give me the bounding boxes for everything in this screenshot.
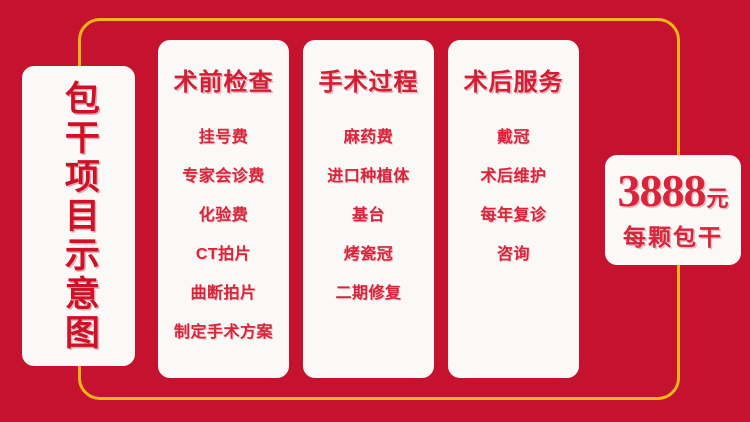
list-item: 化验费	[199, 201, 249, 225]
column-card-post-op: 术后服务 戴冠 术后维护 每年复诊 咨询	[448, 40, 579, 378]
list-item: 戴冠	[497, 123, 530, 147]
column-title: 手术过程	[319, 62, 419, 97]
list-item: 每年复诊	[480, 201, 546, 225]
price-subtitle: 每颗包干	[623, 218, 723, 252]
column-item-list: 挂号费 专家会诊费 化验费 CT拍片 曲断拍片 制定手术方案	[158, 123, 289, 342]
price-currency-unit: 元	[706, 181, 728, 213]
list-item: 专家会诊费	[182, 162, 265, 186]
price-panel: 3888 元 每颗包干	[605, 155, 741, 265]
list-item: 咨询	[497, 240, 530, 264]
column-item-list: 麻药费 进口种植体 基台 烤瓷冠 二期修复	[303, 123, 434, 303]
promo-poster: 包干项目示意图 术前检查 挂号费 专家会诊费 化验费 CT拍片 曲断拍片 制定手…	[0, 0, 750, 422]
price-row: 3888 元	[617, 168, 728, 214]
column-title: 术后服务	[464, 62, 564, 97]
poster-title: 包干项目示意图	[60, 80, 97, 353]
column-card-pre-op: 术前检查 挂号费 专家会诊费 化验费 CT拍片 曲断拍片 制定手术方案	[158, 40, 289, 378]
list-item: 麻药费	[344, 123, 394, 147]
list-item: 挂号费	[199, 123, 249, 147]
list-item: 术后维护	[480, 162, 546, 186]
list-item: 曲断拍片	[190, 279, 256, 303]
column-card-surgery: 手术过程 麻药费 进口种植体 基台 烤瓷冠 二期修复	[303, 40, 434, 378]
list-item: CT拍片	[196, 240, 251, 264]
list-item: 烤瓷冠	[344, 240, 394, 264]
list-item: 进口种植体	[327, 162, 410, 186]
list-item: 制定手术方案	[174, 318, 273, 342]
list-item: 二期修复	[335, 279, 401, 303]
title-panel: 包干项目示意图	[22, 66, 135, 366]
list-item: 基台	[352, 201, 385, 225]
column-item-list: 戴冠 术后维护 每年复诊 咨询	[448, 123, 579, 264]
column-title: 术前检查	[174, 62, 274, 97]
price-amount: 3888	[617, 168, 705, 214]
